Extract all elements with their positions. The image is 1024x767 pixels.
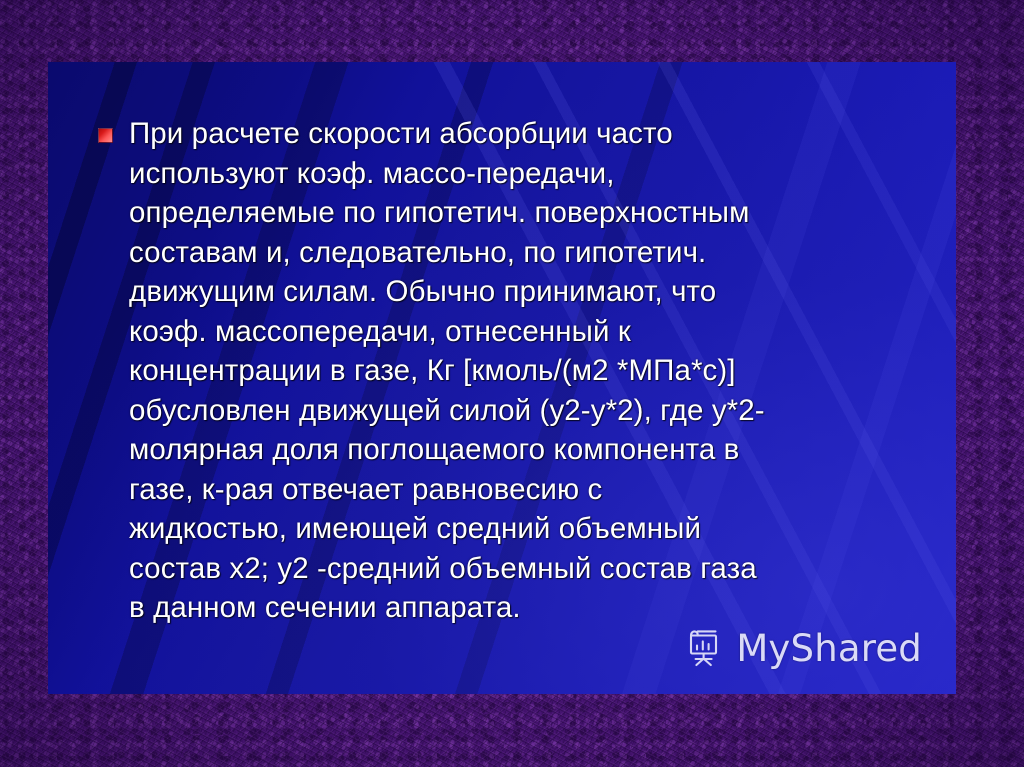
body-text-line: используют коэф. массо-передачи,	[129, 154, 936, 194]
body-text-line: движущим силам. Обычно принимают, что	[129, 272, 936, 312]
body-text-line: составам и, следовательно, по гипотетич.	[129, 233, 936, 273]
body-text-line: жидкостью, имеющей средний объемный	[129, 509, 936, 549]
body-text-line: определяемые по гипотетич. поверхностным	[129, 193, 936, 233]
body-text-line: в данном сечении аппарата.	[129, 588, 936, 628]
flipchart-bar-chart-icon	[684, 628, 726, 668]
body-text-line: молярная доля поглощаемого компонента в	[129, 430, 936, 470]
bullet-paragraph-block: При расчете скорости абсорбции частоиспо…	[98, 114, 936, 628]
myshared-watermark: MyShared	[684, 628, 922, 668]
body-text-line: обусловлен движущей силой (у2-у*2), где …	[129, 391, 936, 431]
body-text-line: При расчете скорости абсорбции часто	[129, 114, 936, 154]
body-text-line: концентрации в газе, Кг [кмоль/(м2 *МПа*…	[129, 351, 936, 391]
slide-body-text: При расчете скорости абсорбции частоиспо…	[129, 114, 936, 628]
myshared-wordmark: MyShared	[736, 630, 922, 667]
body-text-line: состав x2; у2 -средний объемный состав г…	[129, 549, 936, 589]
content-panel: При расчете скорости абсорбции частоиспо…	[48, 62, 956, 694]
slide-root: При расчете скорости абсорбции частоиспо…	[0, 0, 1024, 767]
body-text-line: газе, к-рая отвечает равновесию с	[129, 470, 936, 510]
red-square-bullet-icon	[98, 128, 113, 143]
body-text-line: коэф. массопередачи, отнесенный к	[129, 312, 936, 352]
